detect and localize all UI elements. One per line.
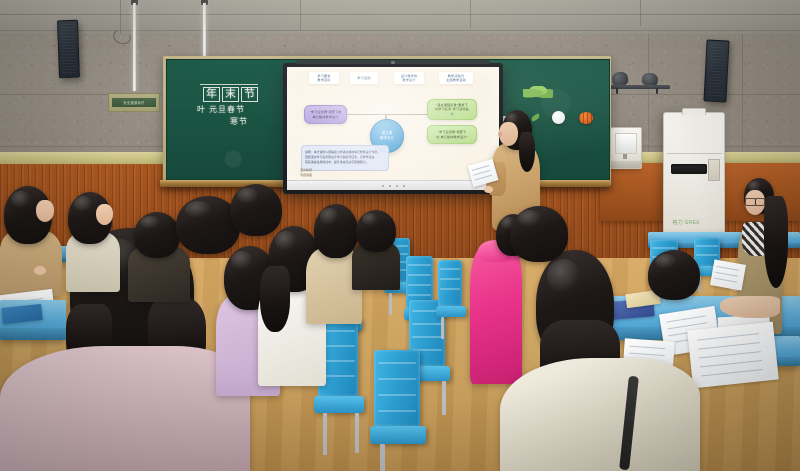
slide-header-chip-2: 学习活动 xyxy=(350,72,378,84)
water-dispenser[interactable] xyxy=(610,127,642,169)
observer-right-worksheet[interactable] xyxy=(710,259,746,290)
observer-rose-coat xyxy=(0,346,250,471)
chalkboard-title: 年 末 节 xyxy=(203,87,258,102)
chalk-char-1: 年 xyxy=(203,87,220,102)
wall-speaker-left xyxy=(57,20,80,79)
handout-paper-right[interactable] xyxy=(687,322,779,389)
observer-row-dark-hair xyxy=(356,210,396,252)
observer-mid-dark-hair xyxy=(134,212,180,258)
person-observer-front-rose xyxy=(0,346,250,471)
chalkboard-subtitle-line-2: 寒节 xyxy=(230,116,248,127)
head-silhouette-3 xyxy=(510,206,568,262)
wall-shelf xyxy=(608,72,670,94)
observer-right-hair-length xyxy=(764,196,788,288)
observer-cream-coat xyxy=(500,358,700,471)
teacher-hand xyxy=(484,186,493,193)
teacher-cheek xyxy=(498,132,502,136)
chair-7[interactable] xyxy=(436,260,466,340)
slide-note-box: 说明：本次课例以部编版小学语文教材单元整体设计为例， 围绕语文学习任务群设计学习… xyxy=(301,145,389,171)
floor-standing-air-conditioner[interactable]: 格力 GREE xyxy=(663,112,725,242)
person-observer-left-dark xyxy=(62,192,132,292)
slide-header-chip-1: 学习要求 教学目标 xyxy=(309,72,339,84)
wall-speaker-right xyxy=(703,39,729,102)
paper-pumpkin-decoration xyxy=(579,112,593,124)
chair-6[interactable] xyxy=(370,350,426,470)
exit-sign-plaque: 安全通道标识 xyxy=(108,93,160,112)
head-silhouette-4 xyxy=(648,250,700,300)
eyeglasses-right-lens-icon xyxy=(755,198,765,206)
ac-brand-text: 格力 GREE xyxy=(672,219,700,226)
chalk-char-2: 末 xyxy=(222,87,239,102)
slide-node-right-green-2: "学习任务群"视野下 的 单元整体教学设计" xyxy=(427,125,477,144)
person-observer-row-dark xyxy=(352,210,408,290)
observer-left-camel-face xyxy=(36,200,54,222)
plaque-text: 安全通道标识 xyxy=(123,100,145,106)
toolbar-dot-2[interactable] xyxy=(389,185,391,187)
slide-corner-label: 语文教研 专题讲座 xyxy=(300,168,312,177)
observer-left-camel-hand xyxy=(34,266,46,275)
observer-white-row-hair-side xyxy=(260,266,290,332)
chalkboard-subtitle-line-1: 叶 元旦春节 xyxy=(197,104,245,115)
toolbar-dot-4[interactable] xyxy=(403,185,405,187)
observer-left-dark-face xyxy=(96,204,113,225)
teacher-hair-length xyxy=(519,132,535,172)
chalk-char-3: 节 xyxy=(241,87,258,102)
toolbar-dot-3[interactable] xyxy=(396,185,398,187)
slide-header-chip-4: 教学活动与 主题教学活动 xyxy=(439,72,473,84)
classroom-photo: 安全通道标识 格力 GREE 年 末 节 xyxy=(0,0,800,471)
whiteboard-toolbar[interactable] xyxy=(287,180,499,190)
head-silhouette-2 xyxy=(230,184,282,236)
slide-header-chip-3: 设计教学的 教学设计 xyxy=(394,72,424,84)
slide-node-left-purple: "学习任务群"视野下的 单元整体教学设计 xyxy=(304,105,347,124)
paper-leaf-cluster-decoration xyxy=(523,86,553,99)
projection-screen[interactable]: 学习要求 教学目标 学习活动 设计教学的 教学设计 教学活动与 主题教学活动 xyxy=(287,67,499,190)
observer-arm-reaching xyxy=(720,296,780,318)
toolbar-dot-1[interactable] xyxy=(382,185,384,187)
slide-node-right-green-1: "语文课程标准"要求下 的学习任务·学习活动设 计 xyxy=(427,99,477,120)
